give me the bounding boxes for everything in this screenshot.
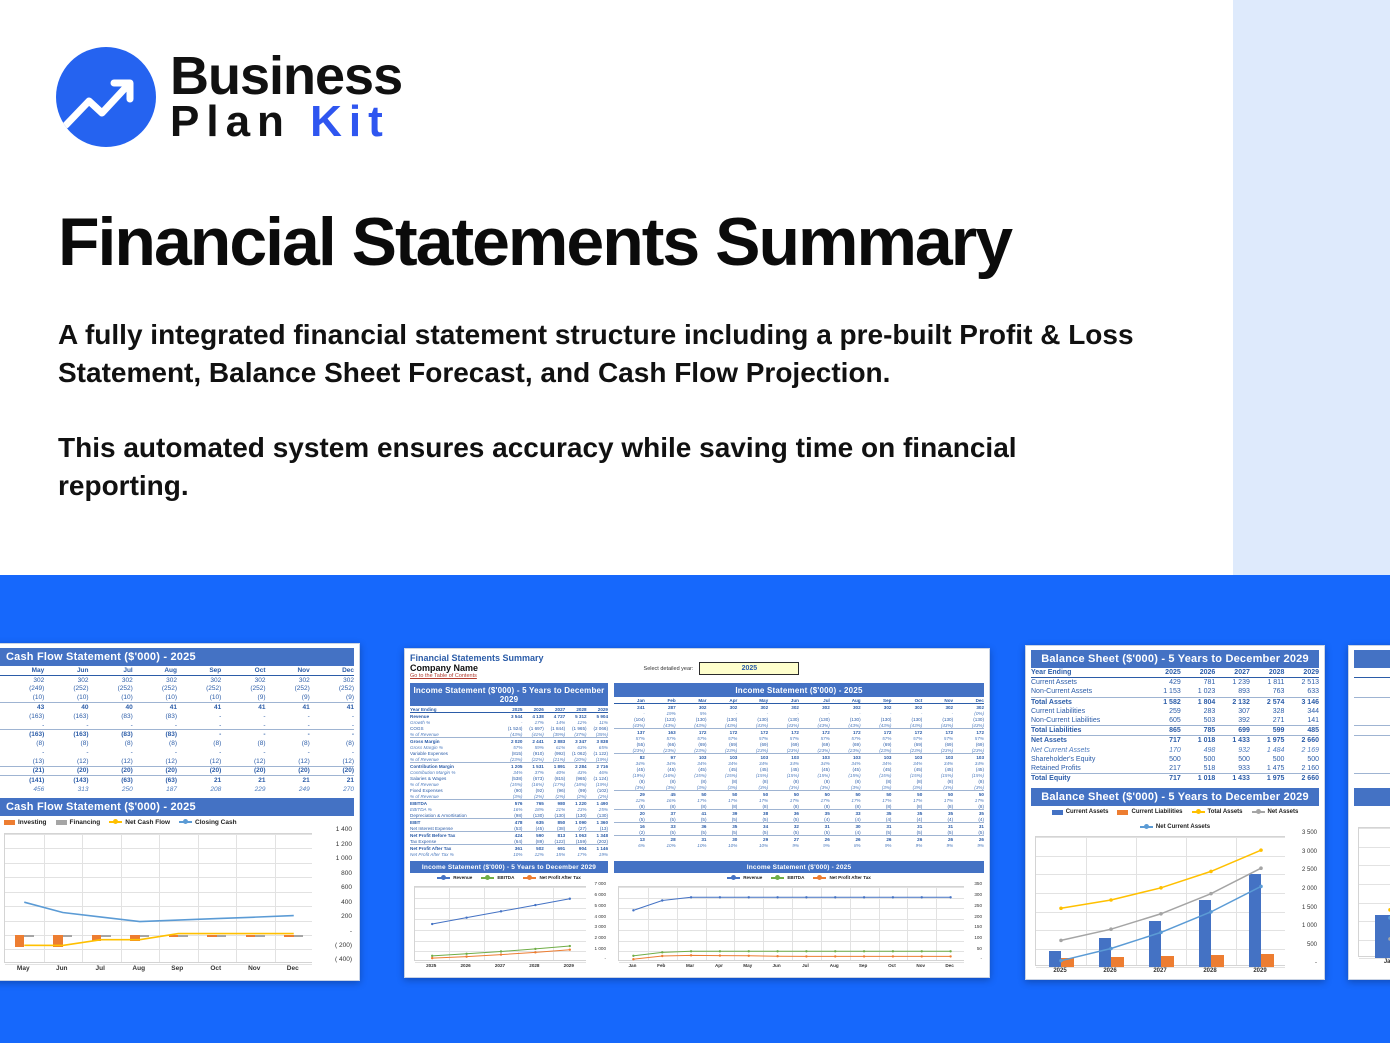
- table-cell: 518: [1181, 764, 1216, 774]
- table-row: 12: [1354, 764, 1390, 774]
- legend-swatch: [179, 821, 192, 823]
- x-axis-tick: 2025: [414, 963, 448, 968]
- table-cell: 500: [1215, 755, 1250, 764]
- table-cell: 12: [1354, 764, 1390, 774]
- table-cell: (163): [0, 712, 44, 721]
- table-cell: 429: [1146, 678, 1181, 688]
- table-cell: 485: [1284, 726, 1319, 736]
- table-cell: -: [221, 712, 265, 721]
- table-row: (163)(163)(83)(83)----: [0, 730, 354, 739]
- table-cell: (63): [89, 776, 133, 785]
- table-cell: 21: [266, 776, 310, 785]
- y-axis-tick: 7 000: [595, 881, 607, 886]
- cash-flow-sheet-preview[interactable]: Cash Flow Statement ($'000) - 2025 MayJu…: [0, 643, 360, 981]
- page-title: Financial Statements Summary: [58, 203, 1178, 281]
- legend-swatch: [437, 877, 450, 879]
- monthly-income-table: JanFebMarAprMayJunJulAugSepOctNovDec2412…: [614, 697, 984, 848]
- table-cell: 313: [44, 785, 88, 794]
- brand-plan-word: Plan: [170, 97, 291, 146]
- partial-chart: Jan: [1354, 823, 1390, 975]
- table-cell: 187: [133, 785, 177, 794]
- y-axis-tick: 5 000: [595, 903, 607, 908]
- table-cell: 1 475: [1250, 764, 1285, 774]
- legend-swatch: [56, 820, 67, 825]
- table-cell: 250: [89, 785, 133, 794]
- table-cell: 512: [1354, 736, 1390, 746]
- table-cell: (252): [89, 685, 133, 694]
- x-axis-tick: Nov: [906, 963, 935, 968]
- x-axis-tick: Nov: [235, 965, 274, 972]
- table-cell: 893: [1215, 687, 1250, 697]
- table-cell: 503: [1181, 716, 1216, 726]
- table-cell: (20): [310, 766, 354, 776]
- table-cell: 41: [266, 703, 310, 712]
- y-axis-tick: 300: [974, 892, 982, 897]
- chart-plot-area: [618, 886, 964, 961]
- table-row: Current Liabilities259283307328344: [1031, 707, 1319, 716]
- x-axis-tick: Jul: [791, 963, 820, 968]
- table-row: Non-Current Assets1 1531 023893763633: [1031, 687, 1319, 697]
- y-axis-tick: 1 400: [336, 826, 352, 833]
- table-cell: 21: [221, 776, 265, 785]
- table-cell: 1 975: [1250, 774, 1285, 784]
- brand-name-line1: Business: [170, 51, 402, 101]
- table-cell: 344: [1284, 707, 1319, 716]
- table-row: (163)(163)(83)(83)----: [0, 712, 354, 721]
- column-header: Jun: [44, 666, 88, 675]
- monthly-income-chart: 35030025020015010050-JanFebMarAprMayJunJ…: [614, 882, 984, 972]
- table-cell: 302: [133, 675, 177, 684]
- column-header-label: Year Ending: [1031, 668, 1146, 678]
- table-cell: (12): [310, 757, 354, 766]
- table-header-row: MayJunJulAugSepOctNovDec: [0, 666, 354, 675]
- x-axis-tick: Oct: [197, 965, 236, 972]
- y-axis-tick: -: [604, 956, 606, 961]
- legend-swatch: [727, 877, 740, 879]
- brand-logo: Business Plan Kit: [56, 47, 402, 147]
- legend-item: EBITDA: [481, 875, 514, 880]
- legend-label: EBITDA: [787, 875, 804, 880]
- legend-label: Net Assets: [1268, 809, 1299, 815]
- brand-name-line2: Plan Kit: [170, 102, 402, 143]
- chart-plot-area: [4, 833, 312, 963]
- table-cell: (9): [310, 693, 354, 702]
- table-cell: 599: [1250, 726, 1285, 736]
- row-label: Retained Profits: [1031, 764, 1146, 774]
- table-cell: 9%: [768, 842, 799, 848]
- y-axis-tick: 4 000: [595, 914, 607, 919]
- table-cell: 1 975: [1250, 736, 1285, 746]
- table-cell: 302: [0, 675, 44, 684]
- table-cell: -: [133, 721, 177, 730]
- table-row: 512: [1354, 736, 1390, 746]
- table-cell: 43: [0, 703, 44, 712]
- x-axis-tick: Apr: [705, 963, 734, 968]
- table-cell: 500: [1181, 755, 1216, 764]
- legend-label: Net Profit After Tax: [539, 875, 580, 880]
- legend-swatch: [481, 877, 494, 879]
- column-header: 2029: [1284, 668, 1319, 678]
- table-cell: (163): [44, 730, 88, 739]
- balance-sheet-table: Year Ending20252026202720282029Current A…: [1031, 668, 1319, 783]
- table-cell: 456: [0, 785, 44, 794]
- table-cell: (12): [89, 757, 133, 766]
- table-cell: 12%: [522, 851, 543, 857]
- x-axis-tick: Aug: [820, 963, 849, 968]
- legend-label: Net Cash Flow: [125, 819, 170, 826]
- table-cell: (13): [0, 757, 44, 766]
- table-cell: 6%: [614, 842, 645, 848]
- table-cell: 10%: [706, 842, 737, 848]
- table-cell: (141): [0, 776, 44, 785]
- table-cell: 40: [44, 703, 88, 712]
- annual-income-chart: 7 0006 0005 0004 0003 0002 0001 000-2025…: [410, 882, 608, 972]
- table-cell: 1 153: [1146, 687, 1181, 697]
- table-cell: 933: [1215, 764, 1250, 774]
- legend-swatch: [771, 877, 784, 879]
- table-cell: 1 081: [1354, 746, 1390, 755]
- table-row: Total Assets1 5821 8042 1322 5743 146: [1031, 697, 1319, 707]
- table-cell: 17%: [565, 851, 586, 857]
- table-cell: 307: [1215, 707, 1250, 716]
- y-axis-tick: 400: [341, 899, 352, 906]
- partial-balance-table: Jan1 1741241 297936927865121 08150012512: [1354, 668, 1390, 783]
- table-row: --------: [0, 748, 354, 757]
- hero-description: A fully integrated financial statement s…: [58, 316, 1148, 504]
- table-cell: 633: [1284, 687, 1319, 697]
- table-row: (249)(252)(252)(252)(252)(252)(252)(252): [0, 685, 354, 694]
- table-cell: 9%: [922, 842, 953, 848]
- x-axis-tick: Jun: [762, 963, 791, 968]
- table-cell: 141: [1284, 716, 1319, 726]
- table-cell: (8): [89, 739, 133, 748]
- table-row: (8)(8)(8)(8)(8)(8)(8)(8): [0, 739, 354, 748]
- table-cell: -: [89, 748, 133, 757]
- table-cell: 2 660: [1284, 774, 1319, 784]
- selected-year-input[interactable]: 2025: [699, 662, 799, 675]
- table-cell: 10%: [737, 842, 768, 848]
- table-row: Current Assets4297811 2391 8112 513: [1031, 678, 1319, 688]
- y-axis-tick: 350: [974, 881, 982, 886]
- partial-sheet-preview[interactable]: Jan1 1741241 297936927865121 08150012512…: [1348, 645, 1390, 980]
- table-cell: 1 804: [1181, 697, 1216, 707]
- legend-item: Current Assets: [1052, 809, 1109, 815]
- monthly-income-table-title: Income Statement ($'000) - 2025: [614, 683, 984, 697]
- legend-label: Closing Cash: [195, 819, 237, 826]
- balance-sheet-chart: 3 5003 0002 5002 0001 5001 000500-202520…: [1031, 832, 1319, 980]
- table-cell: (8): [221, 739, 265, 748]
- legend-item: Financing: [56, 819, 101, 826]
- annual-income-chart-legend: RevenueEBITDANet Profit After Tax: [410, 875, 608, 880]
- table-cell: 1 239: [1215, 678, 1250, 688]
- table-cell: (63): [133, 776, 177, 785]
- balance-sheet-table-title: Balance Sheet ($'000) - 5 Years to Decem…: [1031, 650, 1319, 668]
- table-of-contents-link[interactable]: Go to the Table of Contents: [410, 673, 544, 679]
- table-cell: 1 433: [1215, 736, 1250, 746]
- table-row: 500: [1354, 755, 1390, 764]
- table-cell: (10): [133, 693, 177, 702]
- table-cell: 392: [1215, 716, 1250, 726]
- legend-item: Net Assets: [1252, 809, 1299, 815]
- table-cell: (12): [177, 757, 221, 766]
- y-axis-tick: 2 000: [595, 935, 607, 940]
- table-cell: 1 582: [1146, 697, 1181, 707]
- x-axis-tick: Aug: [120, 965, 159, 972]
- balance-sheet-preview[interactable]: Balance Sheet ($'000) - 5 Years to Decem…: [1025, 645, 1325, 980]
- table-cell: 500: [1250, 755, 1285, 764]
- table-cell: 512: [1354, 774, 1390, 784]
- row-label: Net Profit After Tax %: [410, 851, 501, 857]
- table-cell: 2 169: [1284, 746, 1319, 755]
- x-axis-tick: Dec: [274, 965, 313, 972]
- table-cell: (20): [221, 766, 265, 776]
- table-cell: 302: [177, 675, 221, 684]
- legend-label: Investing: [18, 819, 47, 826]
- table-cell: (10): [177, 693, 221, 702]
- table-row: 786: [1354, 726, 1390, 736]
- sheet-doc-title: Financial Statements Summary: [410, 653, 544, 663]
- annual-income-table-title: Income Statement ($'000) - 5 Years to De…: [410, 683, 608, 706]
- table-cell: (12): [44, 757, 88, 766]
- legend-item: Net Profit After Tax: [813, 875, 870, 880]
- row-label: Total Assets: [1031, 697, 1146, 707]
- cash-flow-table: MayJunJulAugSepOctNovDec3023023023023023…: [0, 666, 354, 794]
- y-axis-tick: 3 000: [595, 924, 607, 929]
- row-label: Shareholder's Equity: [1031, 755, 1146, 764]
- table-cell: 605: [1146, 716, 1181, 726]
- y-axis-tick: 6 000: [595, 892, 607, 897]
- table-cell: 1 297: [1354, 697, 1390, 707]
- table-cell: -: [266, 712, 310, 721]
- table-cell: 271: [1250, 716, 1285, 726]
- select-year-label: Select detailed year:: [644, 666, 694, 672]
- y-axis-tick: 150: [974, 924, 982, 929]
- table-cell: 302: [310, 675, 354, 684]
- table-cell: 865: [1146, 726, 1181, 736]
- table-cell: 40: [89, 703, 133, 712]
- table-row: 512: [1354, 774, 1390, 784]
- legend-item: Net Current Assets: [1140, 824, 1210, 830]
- legend-item: Net Cash Flow: [109, 819, 170, 826]
- chart-plot-area: [414, 886, 586, 961]
- table-cell: 763: [1250, 687, 1285, 697]
- table-row: --------: [0, 721, 354, 730]
- column-header: 2026: [1181, 668, 1216, 678]
- chart-plot-area: [1035, 836, 1285, 966]
- table-cell: 19%: [587, 851, 608, 857]
- table-cell: 500: [1284, 755, 1319, 764]
- column-header: May: [0, 666, 44, 675]
- table-cell: 1 174: [1354, 678, 1390, 688]
- table-cell: (20): [266, 766, 310, 776]
- column-header: Jul: [89, 666, 133, 675]
- table-cell: 717: [1146, 736, 1181, 746]
- table-row: 6%10%10%10%10%9%9%8%9%9%9%9%: [614, 842, 984, 848]
- legend-label: EBITDA: [497, 875, 514, 880]
- column-header: Jan: [1354, 668, 1390, 678]
- y-axis-tick: 1 000: [336, 855, 352, 862]
- legend-label: Current Liabilities: [1131, 809, 1182, 815]
- slide-root: Business Plan Kit Financial Statements S…: [0, 0, 1390, 1043]
- table-cell: (252): [266, 685, 310, 694]
- table-cell: 93: [1354, 707, 1390, 716]
- column-header: Nov: [266, 666, 310, 675]
- legend-item: Net Profit After Tax: [523, 875, 580, 880]
- table-cell: -: [266, 721, 310, 730]
- x-axis-tick: Jan: [618, 963, 647, 968]
- x-axis-tick: 2029: [552, 963, 586, 968]
- legend-label: Revenue: [453, 875, 472, 880]
- right-tint-panel: [1233, 0, 1390, 575]
- table-cell: (252): [133, 685, 177, 694]
- y-axis-tick: 1 000: [595, 946, 607, 951]
- table-row: Net Assets7171 0181 4331 9752 660: [1031, 736, 1319, 746]
- y-axis-tick: -: [980, 956, 982, 961]
- brand-kit-word: Kit: [310, 97, 390, 146]
- table-cell: -: [177, 748, 221, 757]
- cash-flow-chart: 1 4001 2001 000800600400200-( 200)( 400)…: [0, 829, 354, 981]
- x-axis-tick: Feb: [647, 963, 676, 968]
- y-axis-tick: 3 000: [1302, 849, 1317, 855]
- table-cell: -: [44, 721, 88, 730]
- legend-swatch: [1252, 811, 1265, 813]
- table-cell: (10): [0, 693, 44, 702]
- y-axis-tick: -: [1315, 960, 1317, 966]
- cash-flow-chart-legend: InvestingFinancingNet Cash FlowClosing C…: [0, 819, 354, 826]
- table-cell: (10): [89, 693, 133, 702]
- table-cell: -: [310, 748, 354, 757]
- legend-label: Total Assets: [1208, 809, 1243, 815]
- column-header: Dec: [310, 666, 354, 675]
- column-header: 2028: [1250, 668, 1285, 678]
- table-cell: (12): [133, 757, 177, 766]
- table-row: (21)(20)(20)(20)(20)(20)(20)(20): [0, 766, 354, 776]
- table-row: 1 081: [1354, 746, 1390, 755]
- x-axis-tick: Mar: [676, 963, 705, 968]
- table-cell: (10): [44, 693, 88, 702]
- table-row: Net Profit After Tax %10%12%15%17%19%: [410, 851, 608, 857]
- table-cell: 41: [133, 703, 177, 712]
- legend-swatch: [1140, 826, 1153, 828]
- y-axis-tick: 50: [977, 946, 982, 951]
- table-cell: 2 160: [1284, 764, 1319, 774]
- table-cell: 2 513: [1284, 678, 1319, 688]
- table-row: 302302302302302302302302: [0, 675, 354, 684]
- table-header-row: Year Ending20252026202720282029: [1031, 668, 1319, 678]
- table-cell: -: [310, 730, 354, 739]
- legend-swatch: [109, 821, 122, 823]
- table-cell: (9): [221, 693, 265, 702]
- table-cell: 9%: [861, 842, 892, 848]
- row-label: Current Liabilities: [1031, 707, 1146, 716]
- x-axis-tick: 2025: [1035, 968, 1085, 974]
- table-cell: 217: [1146, 764, 1181, 774]
- table-cell: 1 023: [1181, 687, 1216, 697]
- legend-swatch: [1052, 810, 1063, 815]
- table-cell: 124: [1354, 687, 1390, 697]
- annual-income-chart-title: Income Statement ($'000) - 5 Years to De…: [410, 861, 608, 873]
- y-axis-tick: -: [350, 928, 352, 935]
- table-cell: 785: [1181, 726, 1216, 736]
- table-cell: 15%: [544, 851, 565, 857]
- legend-item: Investing: [4, 819, 47, 826]
- table-cell: 1 018: [1181, 774, 1216, 784]
- table-cell: (20): [177, 766, 221, 776]
- table-cell: -: [310, 712, 354, 721]
- table-cell: (83): [133, 730, 177, 739]
- table-cell: (143): [44, 776, 88, 785]
- y-axis-tick: ( 200): [335, 942, 352, 949]
- growth-arrow-chart-icon: [56, 47, 156, 147]
- table-cell: (252): [310, 685, 354, 694]
- legend-swatch: [1192, 811, 1205, 813]
- partial-chart-title: [1354, 788, 1390, 806]
- y-axis-tick: 2 000: [1302, 886, 1317, 892]
- table-cell: -: [266, 730, 310, 739]
- x-axis-tick: Dec: [935, 963, 964, 968]
- legend-item: Total Assets: [1192, 809, 1243, 815]
- table-cell: 21: [177, 776, 221, 785]
- table-cell: 786: [1354, 726, 1390, 736]
- table-row: Total Equity7171 0181 4331 9752 660: [1031, 774, 1319, 784]
- table-row: Total Liabilities865785699599485: [1031, 726, 1319, 736]
- income-statement-sheet-preview[interactable]: Financial Statements Summary Company Nam…: [404, 648, 990, 978]
- table-cell: -: [0, 748, 44, 757]
- table-cell: (249): [0, 685, 44, 694]
- table-cell: (20): [133, 766, 177, 776]
- x-axis-tick: 2029: [1235, 968, 1285, 974]
- x-axis-tick: 2028: [1185, 968, 1235, 974]
- table-cell: -: [221, 748, 265, 757]
- annual-income-table: Year Ending20252026202720282029Revenue3 …: [410, 706, 608, 857]
- table-row: (10)(10)(10)(10)(10)(9)(9)(9): [0, 693, 354, 702]
- x-axis-tick: Jul: [81, 965, 120, 972]
- table-cell: 328: [1250, 707, 1285, 716]
- table-cell: (20): [89, 766, 133, 776]
- row-label: Net Assets: [1031, 736, 1146, 746]
- table-cell: 302: [221, 675, 265, 684]
- table-cell: 9%: [953, 842, 984, 848]
- column-header: 2025: [1146, 668, 1181, 678]
- table-cell: -: [44, 748, 88, 757]
- hero-paragraph-1: A fully integrated financial statement s…: [58, 316, 1148, 391]
- table-cell: 717: [1146, 774, 1181, 784]
- row-label: Total Equity: [1031, 774, 1146, 784]
- table-cell: 249: [266, 785, 310, 794]
- row-label: Non-Current Assets: [1031, 687, 1146, 697]
- legend-item: Current Liabilities: [1117, 809, 1182, 815]
- table-row: 1 297: [1354, 697, 1390, 707]
- table-cell: (9): [266, 693, 310, 702]
- row-label: Non-Current Liabilities: [1031, 716, 1146, 726]
- column-header: Sep: [177, 666, 221, 675]
- y-axis-tick: 200: [974, 914, 982, 919]
- x-axis-tick: 2026: [448, 963, 482, 968]
- x-axis-tick: Jun: [43, 965, 82, 972]
- table-cell: (12): [221, 757, 265, 766]
- table-row: 124: [1354, 687, 1390, 697]
- table-cell: -: [221, 730, 265, 739]
- table-cell: 10%: [501, 851, 522, 857]
- row-label: Total Liabilities: [1031, 726, 1146, 736]
- table-cell: -: [310, 721, 354, 730]
- table-cell: 259: [1146, 707, 1181, 716]
- table-cell: -: [177, 730, 221, 739]
- x-axis-tick: Sep: [849, 963, 878, 968]
- table-row: 456313250187208229249270: [0, 785, 354, 794]
- table-cell: 781: [1181, 678, 1216, 688]
- table-cell: -: [221, 721, 265, 730]
